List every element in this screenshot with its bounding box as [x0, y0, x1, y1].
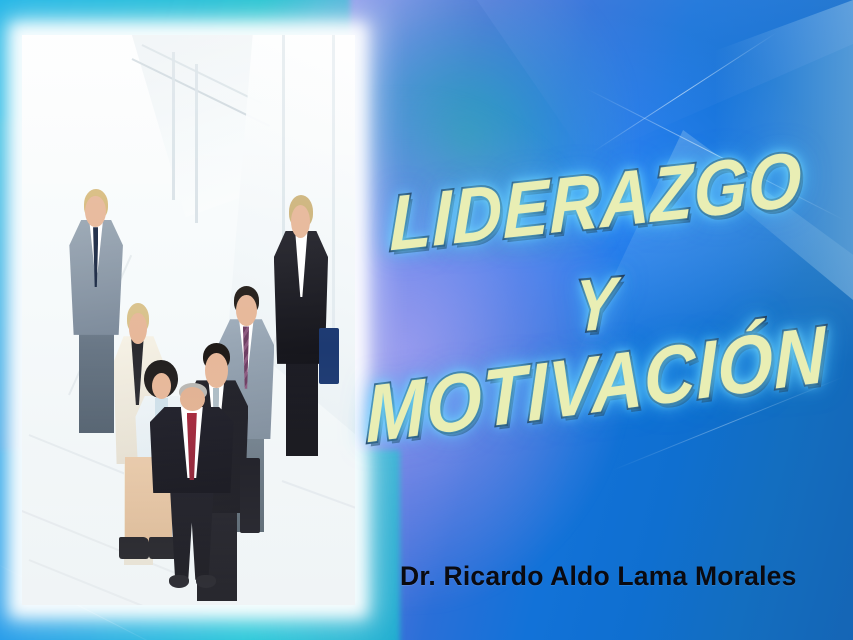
photo-window-mullion — [195, 64, 198, 224]
photo-window-mullion — [172, 52, 175, 200]
photo-shoe — [169, 575, 189, 588]
presentation-slide: LIDERAZGO Y MOTIVACIÓN Dr. Ricardo Aldo … — [0, 0, 853, 640]
photo-scene — [22, 35, 355, 605]
photo-floor-tile-line — [281, 480, 355, 521]
team-photo — [22, 35, 355, 605]
author-name: Dr. Ricardo Aldo Lama Morales — [400, 561, 797, 592]
photo-shoe — [196, 575, 216, 588]
photo-person-leader-red-tie — [142, 383, 242, 600]
